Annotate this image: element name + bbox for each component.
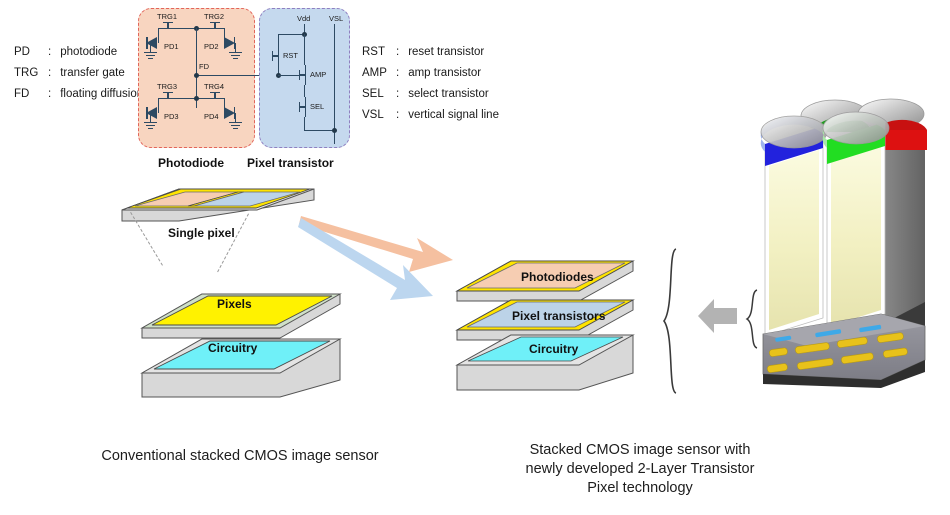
wire-vdd-to-rst [278,34,279,46]
sel-label: SEL [310,102,324,111]
fd-label: FD [199,62,209,71]
new-layer-pixel-transistors-label: Pixel transistors [512,309,605,323]
trg4-label: TRG4 [204,82,224,91]
wire-vsl-rail [334,24,335,144]
legend-right-row: AMP : amp transistor [362,63,499,84]
pixel-transistor-slab-label: Pixel transistor [247,156,334,170]
legend-desc: reset transistor [408,42,484,63]
vdd-label: Vdd [297,14,310,23]
legend-desc: vertical signal line [408,105,499,126]
legend-key: SEL [362,84,396,105]
single-pixel-slab [122,172,317,228]
trg2-transistor-symbol [205,22,225,30]
wire-sel-to-vsl [304,130,335,131]
microlens-front-left [761,116,827,148]
conventional-caption: Conventional stacked CMOS image sensor [30,447,450,466]
legend-key: VSL [362,105,396,126]
legend-desc: amp transistor [408,63,481,84]
single-pixel-base-label: Single pixel [168,226,235,240]
node-fd-bottom [194,96,199,101]
trg3-transistor-symbol [158,92,178,100]
trg2-label: TRG2 [204,12,224,21]
legend-key: RST [362,42,396,63]
legend-left-row: PD : photodiode [14,42,143,63]
wire-fd-gate-amp [278,75,300,76]
wire-pd1-gnd [150,43,151,52]
vsl-label: VSL [329,14,343,23]
rst-transistor-symbol [272,46,280,66]
wire-pd2-gnd [235,43,236,52]
legend-right-row: RST : reset transistor [362,42,499,63]
node-fd-mid [194,73,199,78]
legend-right: RST : reset transistor AMP : amp transis… [362,42,499,126]
wire-amp-to-sel [304,85,305,97]
pixel-array-3d-render [757,88,937,388]
legend-desc: photodiode [60,42,117,63]
trg1-label: TRG1 [157,12,177,21]
legend-key: PD [14,42,48,63]
wire-sel-bottom [304,117,305,130]
new-stack-caption: Stacked CMOS image sensor with newly dev… [455,441,825,498]
amp-label: AMP [310,70,326,79]
arrow-pixel-transistor [298,218,433,300]
conventional-layer-circuitry-label: Circuitry [208,341,257,355]
wire-trg3-left [158,98,159,113]
pd3-label: PD3 [164,112,179,121]
legend-key: FD [14,84,48,105]
sel-transistor-symbol [299,97,307,117]
pd1-label: PD1 [164,42,179,51]
trg1-transistor-symbol [158,22,178,30]
wire-vdd-amp-top [304,34,305,65]
arrow-to-render [696,296,738,341]
rst-label: RST [283,51,298,60]
wire-pd3-gnd [150,113,151,122]
legend-desc: transfer gate [60,63,125,84]
legend-key: AMP [362,63,396,84]
new-layer-photodiodes-label: Photodiodes [521,270,594,284]
pd4-label: PD4 [204,112,219,121]
trg3-label: TRG3 [157,82,177,91]
microlens-front-right [823,112,889,144]
legend-right-row: SEL : select transistor [362,84,499,105]
node-vsl [332,128,337,133]
trg4-transistor-symbol [205,92,225,100]
new-stack-caption-line-3: Pixel technology [455,479,825,498]
wire-pd4-gnd [235,113,236,122]
new-stack-caption-line-2: newly developed 2-Layer Transistor [455,460,825,479]
legend-left-row: FD : floating diffusion [14,84,143,105]
legend-desc: floating diffusion [60,84,143,105]
new-layer-circuitry-label: Circuitry [529,342,578,356]
legend-left-row: TRG : transfer gate [14,63,143,84]
pd2-label: PD2 [204,42,219,51]
legend-key: TRG [14,63,48,84]
legend-left: PD : photodiode TRG : transfer gate FD :… [14,42,143,105]
conventional-layer-pixels-label: Pixels [217,297,252,311]
photodiode-slab-label: Photodiode [158,156,224,170]
amp-transistor-symbol [299,65,307,85]
stack-brace-left [662,247,684,400]
wire-trg1-left [158,28,159,43]
wire-vdd-bus [278,34,305,35]
legend-right-row: VSL : vertical signal line [362,105,499,126]
legend-desc: select transistor [408,84,489,105]
new-stack-caption-line-1: Stacked CMOS image sensor with [455,441,825,460]
